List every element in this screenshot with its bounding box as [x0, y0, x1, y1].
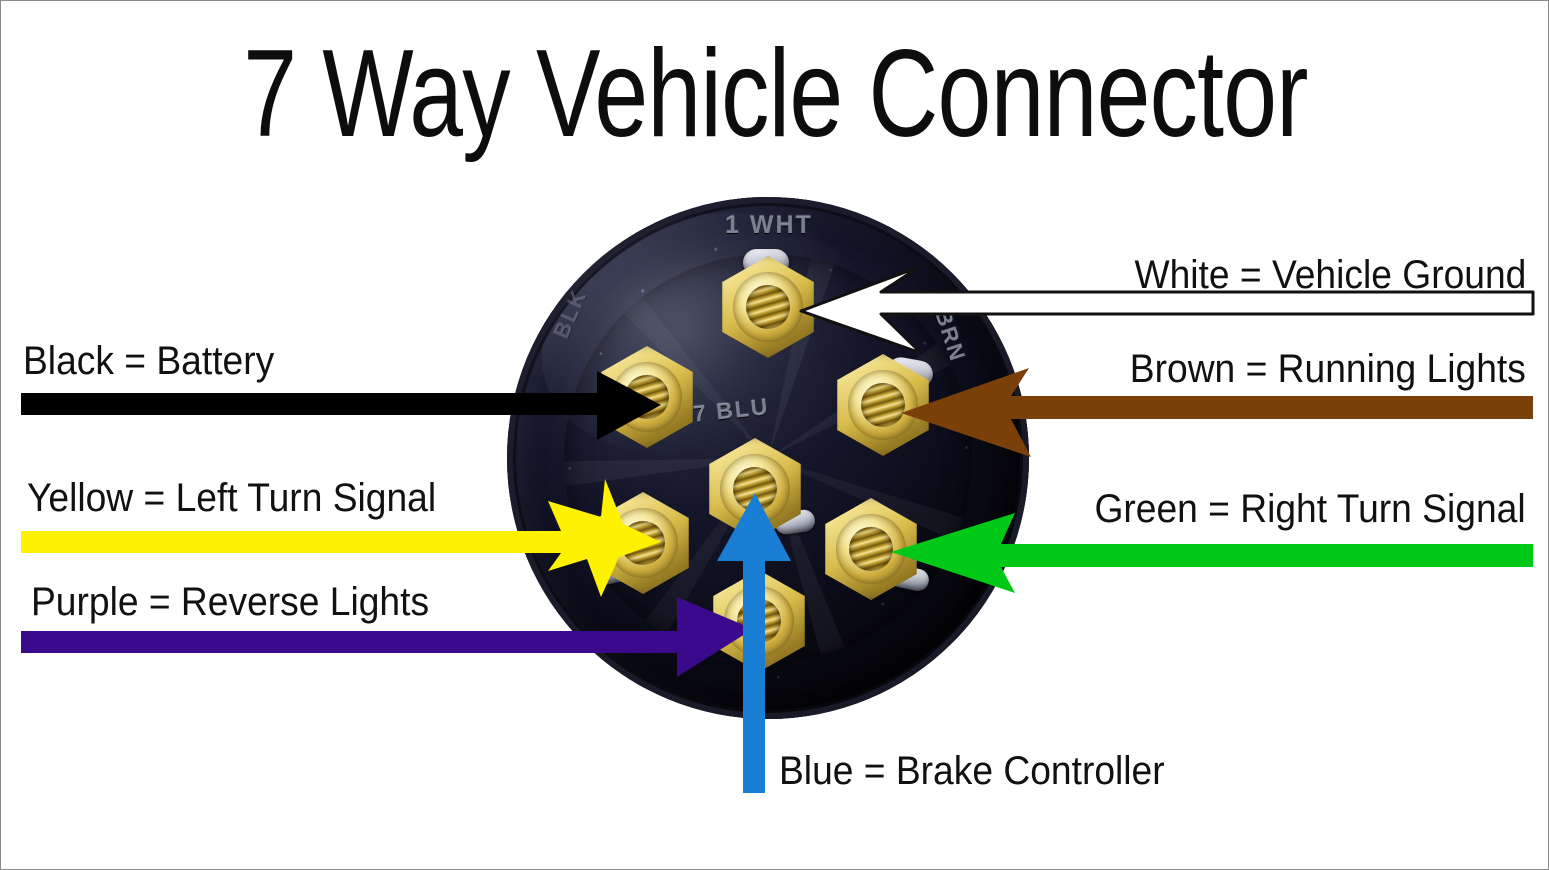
diagram-canvas: 7 Way Vehicle Connector 1 WHT 7 BLU BRN …	[0, 0, 1549, 870]
legend-label-brown: Brown = Running Lights	[1130, 346, 1526, 392]
legend-label-purple: Purple = Reverse Lights	[31, 579, 429, 625]
legend-label-green: Green = Right Turn Signal	[1095, 486, 1526, 532]
legend-label-blue: Blue = Brake Controller	[779, 748, 1165, 794]
arrow-layer	[1, 1, 1549, 870]
legend-label-black: Black = Battery	[23, 338, 274, 384]
legend-label-yellow: Yellow = Left Turn Signal	[27, 475, 436, 521]
legend-label-white: White = Vehicle Ground	[1134, 252, 1526, 298]
